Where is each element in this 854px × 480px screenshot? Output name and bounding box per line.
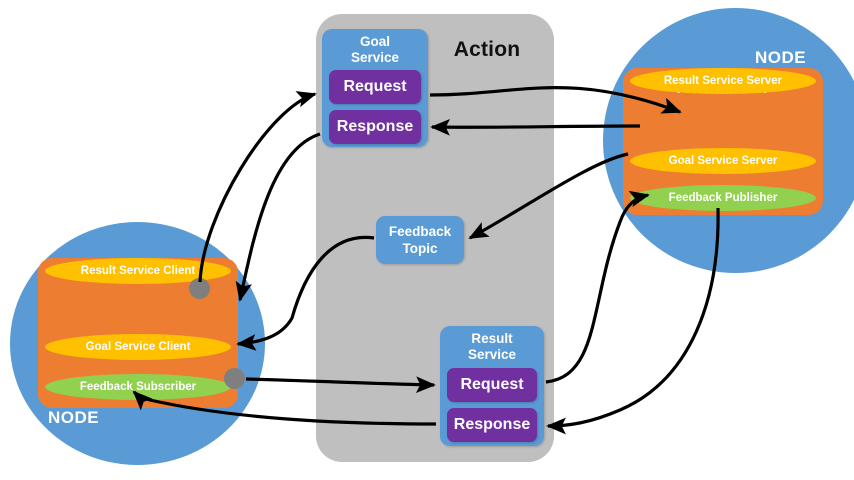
goal-service-request-box[interactable]: Request: [329, 70, 421, 104]
goal-service-client-item[interactable]: Goal Service Client: [45, 334, 231, 360]
goal-service-title-line2: Service: [351, 50, 399, 65]
goal-service-title: Goal Service: [322, 34, 428, 66]
server-node-label: NODE: [755, 48, 806, 68]
result-service-response-box[interactable]: Response: [447, 408, 537, 442]
result-service-title: Result Service: [440, 331, 544, 363]
result-service-title-line1: Result: [471, 331, 512, 346]
goal-service-response-box[interactable]: Response: [329, 110, 421, 144]
goal-service-box: Goal Service Request Response: [322, 29, 428, 147]
result-service-box: Result Service Request Response: [440, 326, 544, 446]
action-group-label: Action: [432, 38, 542, 62]
diagram-canvas: Action NODE NODE Action Sever Goal Servi…: [0, 0, 854, 480]
arrow-goal-response-to-client: [240, 134, 320, 300]
action-server-panel: Action Sever Goal Service Server Feedbac…: [623, 68, 823, 215]
goal-client-connector-dot: [189, 278, 210, 299]
result-service-request-box[interactable]: Request: [447, 368, 537, 402]
action-client-panel: Action Client Goal Service Client Feedba…: [38, 258, 238, 408]
feedback-topic-line1: Feedback: [389, 223, 451, 240]
result-service-title-line2: Service: [468, 347, 516, 362]
feedback-subscriber-item[interactable]: Feedback Subscriber: [45, 374, 231, 400]
feedback-publisher-item[interactable]: Feedback Publisher: [630, 185, 816, 211]
client-node-label: NODE: [48, 408, 99, 428]
result-service-server-item[interactable]: Result Service Server: [630, 68, 816, 94]
result-client-connector-dot: [224, 368, 245, 389]
goal-service-title-line1: Goal: [360, 34, 390, 49]
goal-service-server-item[interactable]: Goal Service Server: [630, 148, 816, 174]
feedback-topic-box[interactable]: Feedback Topic: [376, 216, 464, 264]
feedback-topic-line2: Topic: [403, 240, 438, 257]
